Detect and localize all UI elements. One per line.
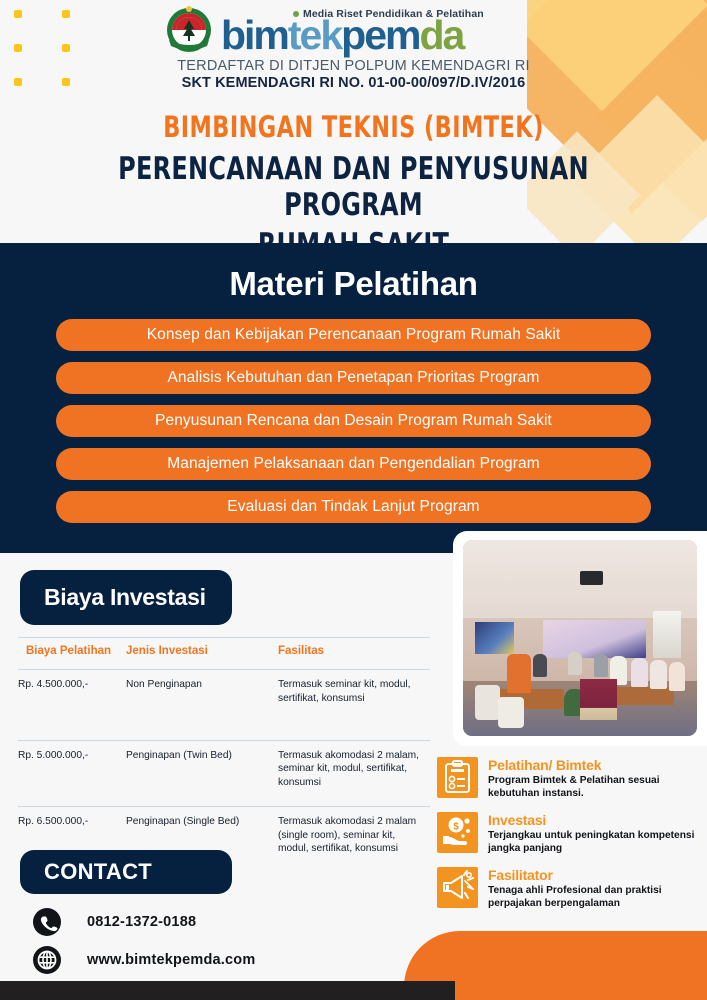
contact-badge: CONTACT bbox=[20, 850, 232, 894]
logo-lockup: Media Riset Pendidikan & Pelatihan bimte… bbox=[163, 6, 463, 58]
title-line-2: PERENCANAAN DAN PENYUSUNAN PROGRAM bbox=[49, 151, 657, 223]
wordmark-text: bimtekpemda bbox=[221, 17, 463, 55]
materi-list: Konsep dan Kebijakan Perencanaan Program… bbox=[0, 319, 707, 523]
photo-podium bbox=[580, 679, 617, 720]
svg-text:$: $ bbox=[453, 821, 459, 832]
cell-harga: Rp. 5.000.000,- bbox=[18, 741, 126, 806]
contact-website-row[interactable]: www.bimtekpemda.com bbox=[33, 946, 255, 974]
feature-title: Fasilitator bbox=[488, 868, 699, 883]
feature-item: $ Investasi Terjangkau untuk peningkatan… bbox=[437, 812, 699, 856]
feature-title: Investasi bbox=[488, 813, 699, 828]
table-row: Rp. 4.500.000,- Non Penginapan Termasuk … bbox=[18, 669, 430, 740]
bottom-bar-dark bbox=[0, 981, 455, 1000]
megaphone-icon bbox=[437, 867, 478, 908]
bottom-bar-orange bbox=[455, 981, 707, 1000]
photo-person bbox=[533, 654, 547, 678]
feature-item: Fasilitator Tenaga ahli Profesional dan … bbox=[437, 867, 699, 911]
materi-item[interactable]: Evaluasi dan Tindak Lanjut Program bbox=[56, 491, 651, 523]
materi-item[interactable]: Penyusunan Rencana dan Desain Program Ru… bbox=[56, 405, 651, 437]
phone-icon bbox=[33, 908, 61, 936]
registration-line-1: TERDAFTAR DI DITJEN POLPUM KEMENDAGRI RI bbox=[0, 58, 707, 74]
table-header-row: Biaya Pelatihan Jenis Investasi Fasilita… bbox=[18, 637, 430, 669]
photo-chair bbox=[498, 697, 524, 728]
brand-wordmark: Media Riset Pendidikan & Pelatihan bimte… bbox=[221, 6, 463, 55]
photo-backdrop-banner bbox=[543, 620, 646, 657]
biaya-investasi-badge: Biaya Investasi bbox=[20, 570, 232, 625]
header: Media Riset Pendidikan & Pelatihan bimte… bbox=[0, 0, 707, 100]
hand-coin-icon: $ bbox=[437, 812, 478, 853]
poster-canvas: Media Riset Pendidikan & Pelatihan bimte… bbox=[0, 0, 707, 1000]
globe-icon bbox=[33, 946, 61, 974]
materi-section: Materi Pelatihan Konsep dan Kebijakan Pe… bbox=[0, 243, 707, 553]
feature-text: Investasi Terjangkau untuk peningkatan k… bbox=[488, 812, 699, 856]
contact-phone-text: 0812-1372-0188 bbox=[87, 914, 196, 930]
feature-title: Pelatihan/ Bimtek bbox=[488, 758, 699, 773]
photo-panel bbox=[453, 531, 707, 746]
clipboard-checklist-icon bbox=[437, 757, 478, 798]
wordmark-part-1: bim bbox=[221, 12, 288, 58]
cell-fasilitas: Termasuk akomodasi 2 malam (single room)… bbox=[266, 807, 430, 872]
table-row: Rp. 5.000.000,- Penginapan (Twin Bed) Te… bbox=[18, 740, 430, 806]
photo-chair bbox=[475, 685, 501, 720]
registration-line-2: SKT KEMENDAGRI RI NO. 01-00-00/097/D.IV/… bbox=[0, 75, 707, 91]
column-header-fasilitas: Fasilitas bbox=[266, 638, 430, 669]
photo-person bbox=[650, 660, 666, 689]
feature-text: Fasilitator Tenaga ahli Profesional dan … bbox=[488, 867, 699, 911]
column-header-biaya: Biaya Pelatihan bbox=[18, 638, 126, 669]
photo-person bbox=[568, 652, 582, 676]
materi-item[interactable]: Analisis Kebutuhan dan Penetapan Priorit… bbox=[56, 362, 651, 394]
contact-website-text: www.bimtekpemda.com bbox=[87, 952, 255, 968]
seminar-room-photo bbox=[463, 540, 697, 736]
biaya-table: Biaya Pelatihan Jenis Investasi Fasilita… bbox=[18, 637, 430, 872]
feature-item: Pelatihan/ Bimtek Program Bimtek & Pelat… bbox=[437, 757, 699, 801]
tagline-bullet-icon bbox=[293, 11, 299, 17]
tagline-text: Media Riset Pendidikan & Pelatihan bbox=[303, 8, 484, 20]
photo-person bbox=[669, 662, 685, 691]
materi-heading: Materi Pelatihan bbox=[0, 243, 707, 303]
photo-projector bbox=[580, 571, 603, 585]
cell-jenis: Penginapan (Twin Bed) bbox=[126, 741, 266, 806]
page-title: BIMBINGAN TEKNIS (BIMTEK) PERENCANAAN DA… bbox=[0, 110, 707, 263]
contact-phone-row[interactable]: 0812-1372-0188 bbox=[33, 908, 196, 936]
cell-fasilitas: Termasuk akomodasi 2 malam, seminar kit,… bbox=[266, 741, 430, 806]
photo-person-foreground bbox=[507, 654, 530, 693]
materi-item[interactable]: Manajemen Pelaksanaan dan Pengendalian P… bbox=[56, 448, 651, 480]
feature-desc: Program Bimtek & Pelatihan sesuai kebutu… bbox=[488, 775, 699, 801]
cell-fasilitas: Termasuk seminar kit, modul, sertifikat,… bbox=[266, 670, 430, 740]
photo-wall-art bbox=[475, 622, 515, 653]
brand-tagline: Media Riset Pendidikan & Pelatihan bbox=[293, 8, 484, 20]
photo-person bbox=[594, 654, 608, 678]
cell-jenis: Non Penginapan bbox=[126, 670, 266, 740]
title-line-1: BIMBINGAN TEKNIS (BIMTEK) bbox=[49, 110, 657, 144]
feature-desc: Tenaga ahli Profesional dan praktisi per… bbox=[488, 885, 699, 911]
photo-person bbox=[631, 658, 647, 687]
feature-text: Pelatihan/ Bimtek Program Bimtek & Pelat… bbox=[488, 757, 699, 801]
feature-list: Pelatihan/ Bimtek Program Bimtek & Pelat… bbox=[437, 757, 699, 922]
feature-desc: Terjangkau untuk peningkatan kompetensi … bbox=[488, 830, 699, 856]
photo-window bbox=[653, 611, 681, 658]
column-header-jenis: Jenis Investasi bbox=[126, 638, 266, 669]
cell-harga: Rp. 4.500.000,- bbox=[18, 670, 126, 740]
bimtek-pemda-emblem-icon bbox=[163, 6, 215, 58]
materi-item[interactable]: Konsep dan Kebijakan Perencanaan Program… bbox=[56, 319, 651, 351]
